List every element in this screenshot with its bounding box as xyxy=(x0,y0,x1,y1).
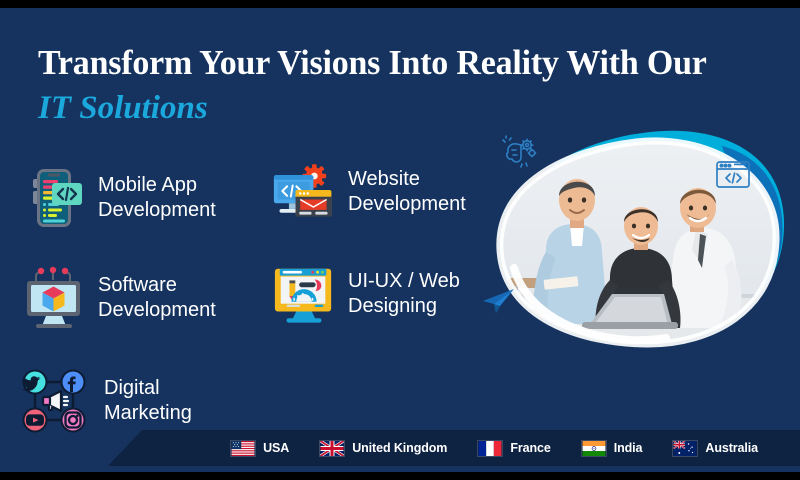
country-item-united-kingdom[interactable]: United Kingdom xyxy=(319,440,447,457)
flag-uk-icon xyxy=(319,440,345,457)
country-label: United Kingdom xyxy=(352,441,447,455)
service-label: Website Development xyxy=(348,167,466,217)
country-label: France xyxy=(510,441,550,455)
browser-code-icon xyxy=(714,158,752,190)
social-megaphone-icon xyxy=(18,366,92,436)
flag-usa-icon xyxy=(230,440,256,457)
flag-australia-icon xyxy=(672,440,698,457)
country-label: Australia xyxy=(705,441,758,455)
page-title: Transform Your Visions Into Reality With… xyxy=(38,42,768,128)
flag-france-icon xyxy=(477,440,503,457)
service-item-digital-marketing[interactable]: Digital Marketing xyxy=(18,366,192,436)
service-label: UI-UX / Web Designing xyxy=(348,269,460,319)
service-item-mobile-app-development[interactable]: Mobile App Development xyxy=(22,166,216,230)
service-item-ui-ux-web-designing[interactable]: UI-UX / Web Designing xyxy=(272,262,460,326)
country-item-australia[interactable]: Australia xyxy=(672,440,758,457)
country-label: India xyxy=(614,441,643,455)
paper-plane-icon xyxy=(480,286,516,316)
flag-india-icon xyxy=(581,440,607,457)
monitor-pencil-ruler-icon xyxy=(272,262,336,326)
country-label: USA xyxy=(263,441,289,455)
service-label: Digital Marketing xyxy=(104,376,192,426)
headline-line-1: Transform Your Visions Into Reality With… xyxy=(38,42,746,84)
country-item-india[interactable]: India xyxy=(581,440,643,457)
monitor-cube-network-icon xyxy=(22,266,86,330)
service-label: Mobile App Development xyxy=(98,173,216,223)
country-item-usa[interactable]: USA xyxy=(230,440,289,457)
service-item-website-development[interactable]: Website Development xyxy=(272,160,466,224)
banner-root: Transform Your Visions Into Reality With… xyxy=(0,8,800,472)
headline-line-2: IT Solutions xyxy=(38,88,768,128)
brain-gears-icon xyxy=(500,134,540,170)
mobile-phone-code-icon xyxy=(22,166,86,230)
country-flag-bar: USA United Kingdom xyxy=(108,430,800,466)
country-item-france[interactable]: France xyxy=(477,440,550,457)
service-item-software-development[interactable]: Software Development xyxy=(22,266,216,330)
monitor-browser-gear-icon xyxy=(272,160,336,224)
service-label: Software Development xyxy=(98,273,216,323)
